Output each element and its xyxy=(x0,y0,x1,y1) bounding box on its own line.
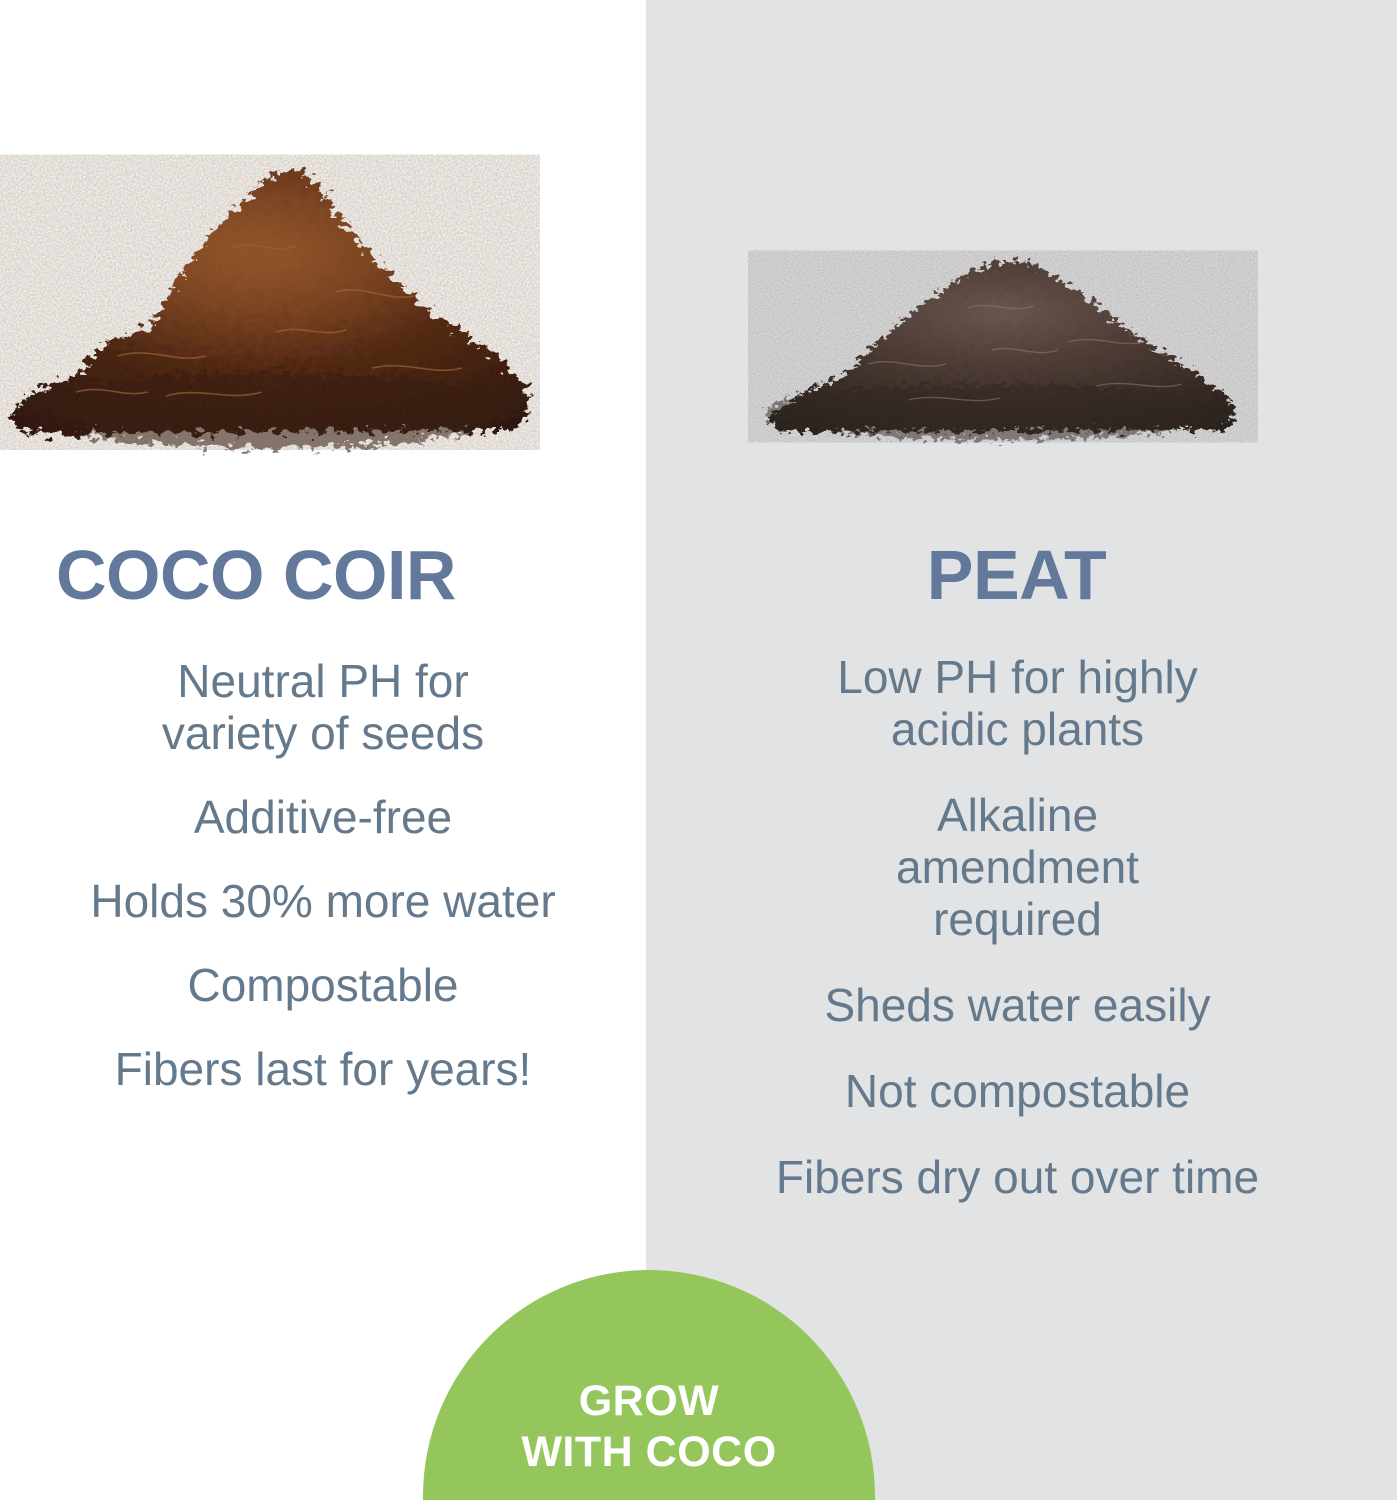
coco-coir-feature-5: Fibers last for years! xyxy=(18,1044,628,1096)
peat-feature-2: Alkaline amendment required xyxy=(686,790,1349,946)
peat-feature-list: Low PH for highly acidic plants Alkaline… xyxy=(686,652,1357,1204)
column-coco-coir: COCO COIR Neutral PH for variety of seed… xyxy=(0,540,646,1128)
coco-coir-feature-1: Neutral PH for variety of seeds xyxy=(18,656,628,760)
peat-feature-1: Low PH for highly acidic plants xyxy=(686,652,1349,756)
peat-feature-4: Not compostable xyxy=(686,1066,1349,1118)
coco-coir-vs-peat-infographic: COCO COIR Neutral PH for variety of seed… xyxy=(0,0,1397,1500)
column-peat: PEAT Low PH for highly acidic plants Alk… xyxy=(646,540,1397,1238)
peat-feature-3: Sheds water easily xyxy=(686,980,1349,1032)
coco-coir-feature-4: Compostable xyxy=(18,960,628,1012)
coco-coir-feature-2: Additive-free xyxy=(18,792,628,844)
coco-coir-feature-list: Neutral PH for variety of seeds Additive… xyxy=(18,656,628,1096)
coco-coir-title: COCO COIR xyxy=(18,540,628,610)
peat-feature-5: Fibers dry out over time xyxy=(686,1152,1349,1204)
coco-coir-feature-3: Holds 30% more water xyxy=(18,876,628,928)
peat-title: PEAT xyxy=(686,540,1357,610)
grow-with-coco-badge-text: GROW WITH COCO xyxy=(521,1376,776,1477)
